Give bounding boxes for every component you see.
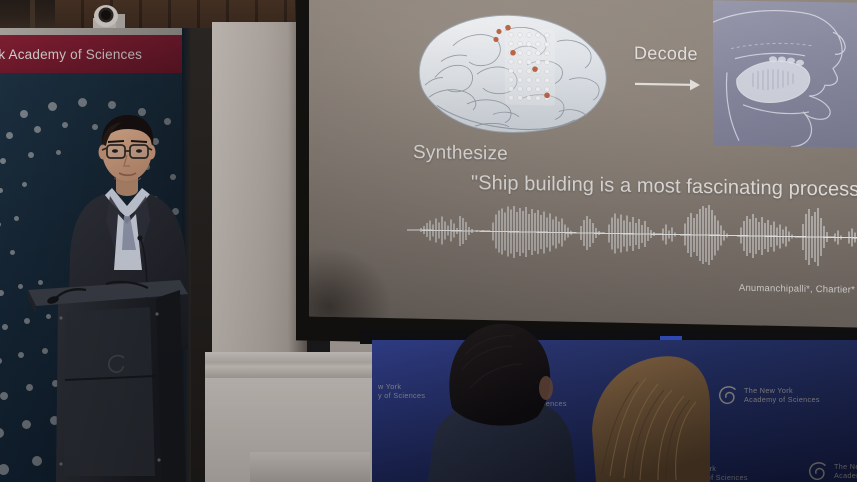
decode-label: Decode [634, 43, 698, 65]
speech-waveform [407, 199, 857, 269]
backdrop-logo-line1: The New [834, 462, 857, 471]
baseboard [250, 452, 370, 482]
nyas-spiral-logo-icon [807, 460, 829, 482]
ptz-ceiling-camera [85, 0, 131, 30]
backdrop-logo: The New York Academy of Sciences [717, 384, 820, 406]
brain-lateral-view [409, 5, 614, 149]
banner-top-rail [0, 28, 187, 35]
backdrop-logo-line1: The New York [744, 386, 820, 395]
audience-foreground [410, 296, 710, 482]
backdrop-logo-line2: Academy of [834, 471, 857, 480]
backdrop-logo: The New Academy of [807, 460, 857, 482]
slide-attribution: Anumanchipalli*, Chartier* [739, 283, 855, 296]
banner-header-band: York Academy of Sciences [0, 35, 187, 73]
lectern [28, 274, 188, 482]
banner-header-text: York Academy of Sciences [0, 47, 142, 62]
right-arrow-icon [635, 77, 700, 92]
synthesize-label: Synthesize [413, 142, 508, 166]
presentation-photo-scene: York Academy of Sciences [0, 0, 857, 482]
wall-molding [205, 352, 375, 378]
vocal-tract-diagram [713, 0, 857, 148]
projection-screen: Decode [309, 0, 857, 328]
nyas-spiral-logo-icon [717, 384, 739, 406]
backdrop-logo-line2: Academy of Sciences [744, 395, 820, 404]
slide-quote: "Ship building is a most fascinating pro… [471, 172, 857, 202]
